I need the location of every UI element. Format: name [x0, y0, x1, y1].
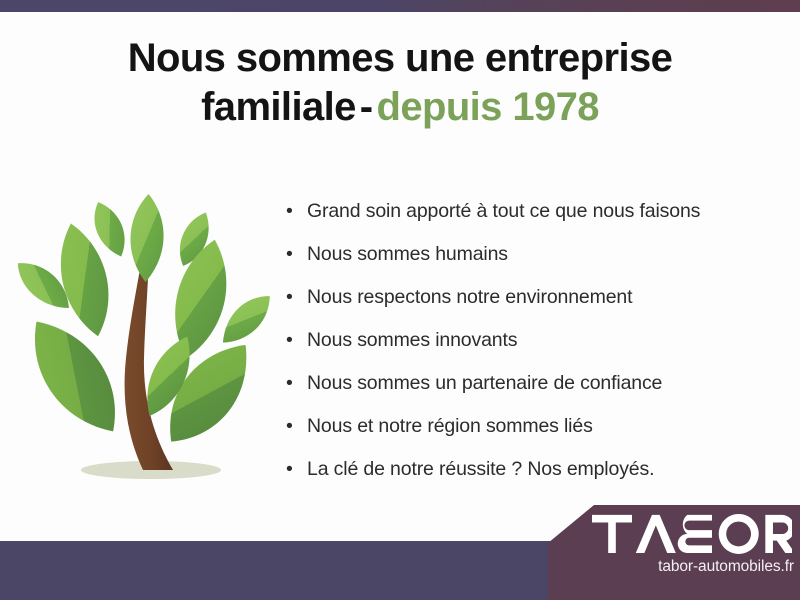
title-line-1-text: Nous sommes une entreprise [128, 36, 673, 80]
title-line-2-accent: depuis 1978 [377, 85, 599, 129]
bullet-marker-icon: • [286, 233, 307, 276]
bullet-marker-icon: • [286, 448, 307, 491]
slide-canvas: Nous sommes une entreprise familiale-dep… [0, 0, 800, 600]
list-item: • Nous respectons notre environnement [286, 276, 776, 319]
tree-icon [18, 182, 274, 488]
bullet-marker-icon: • [286, 276, 307, 319]
value-proposition-list: • Grand soin apporté à tout ce que nous … [286, 190, 776, 491]
title-line-2-plain: familiale [201, 85, 356, 129]
bullet-marker-icon: • [286, 319, 307, 362]
bullet-marker-icon: • [286, 405, 307, 448]
tree-leaf-top-center [129, 193, 165, 282]
list-item-label: La clé de notre réussite ? Nos employés. [307, 448, 776, 491]
title-line-2: familiale-depuis 1978 [40, 83, 760, 132]
list-item: • Nous sommes un partenaire de confiance [286, 362, 776, 405]
tree-leaf-lower-left [18, 305, 136, 448]
list-item: • Nous et notre région sommes liés [286, 405, 776, 448]
list-item-label: Nous respectons notre environnement [307, 276, 776, 319]
list-item-label: Nous sommes innovants [307, 319, 776, 362]
list-item-label: Nous sommes humains [307, 233, 776, 276]
list-item-label: Nous sommes un partenaire de confiance [307, 362, 776, 405]
list-item: • Grand soin apporté à tout ce que nous … [286, 190, 776, 233]
page-title: Nous sommes une entreprise familiale-dep… [40, 34, 760, 132]
list-item-label: Grand soin apporté à tout ce que nous fa… [307, 190, 776, 233]
title-dash: - [356, 85, 377, 129]
brand-logo-plaque: tabor-automobiles.fr [548, 503, 800, 600]
title-line-1: Nous sommes une entreprise [40, 34, 760, 83]
bullet-marker-icon: • [286, 362, 307, 405]
list-item: • Nous sommes innovants [286, 319, 776, 362]
brand-website-url[interactable]: tabor-automobiles.fr [592, 558, 794, 576]
list-item-label: Nous et notre région sommes liés [307, 405, 776, 448]
tabor-wordmark-icon [592, 509, 792, 557]
bullet-marker-icon: • [286, 190, 307, 233]
top-accent-band [0, 0, 800, 12]
list-item: • Nous sommes humains [286, 233, 776, 276]
list-item: • La clé de notre réussite ? Nos employé… [286, 448, 776, 491]
